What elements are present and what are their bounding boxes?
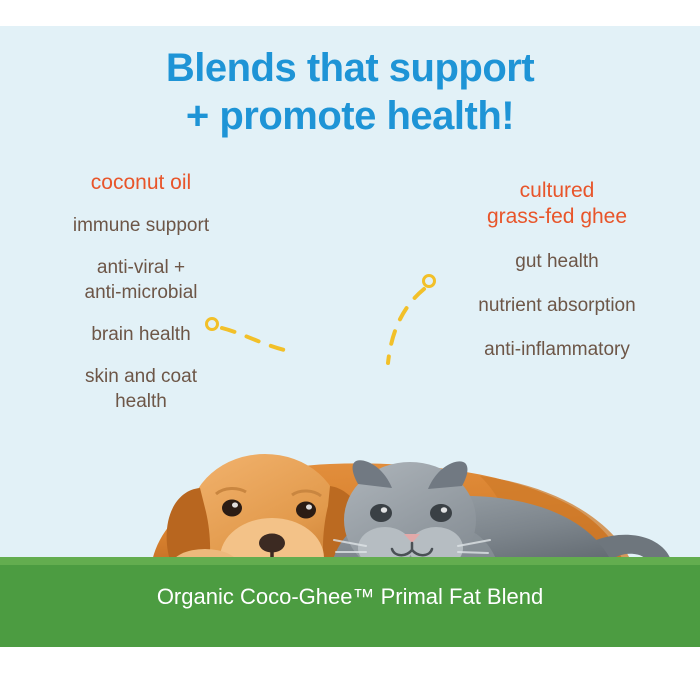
coconut-oil-heading: coconut oil — [26, 170, 256, 196]
headline-line-2: + promote health! — [0, 92, 700, 140]
ghee-column: cultured grass-fed ghee gut health nutri… — [432, 178, 682, 362]
product-caption: Organic Coco-Ghee™ Primal Fat Blend — [0, 583, 700, 611]
ghee-benefit-nutrient-absorption: nutrient absorption — [432, 293, 682, 318]
poster: Blends that support + promote health! co… — [0, 0, 700, 700]
ghee-heading-line1: cultured — [520, 179, 595, 202]
coconut-oil-column: coconut oil immune support anti-viral + … — [26, 170, 256, 414]
coconut-benefit-anti-viral-line2: anti-microbial — [85, 282, 198, 303]
ghee-benefit-gut-health: gut health — [432, 249, 682, 274]
dashed-connector-left-icon — [200, 312, 310, 372]
ghee-heading: cultured grass-fed ghee — [432, 178, 682, 230]
coconut-benefit-anti-viral: anti-viral + anti-microbial — [26, 255, 256, 305]
coconut-benefit-immune-support: immune support — [26, 213, 256, 238]
dashed-connector-right-icon — [370, 268, 450, 378]
grass-highlight — [0, 557, 700, 565]
bottom-margin — [0, 647, 700, 700]
page-title: Blends that support + promote health! — [0, 44, 700, 140]
headline-line-1: Blends that support — [166, 46, 534, 90]
pets-photo: Organic Coco-Ghee™ Primal Fat Blend — [0, 380, 700, 647]
ghee-heading-line2: grass-fed ghee — [487, 205, 627, 228]
top-margin — [0, 0, 700, 26]
ghee-benefit-anti-inflammatory: anti-inflammatory — [432, 337, 682, 362]
coconut-benefit-anti-viral-line1: anti-viral + — [97, 257, 185, 278]
